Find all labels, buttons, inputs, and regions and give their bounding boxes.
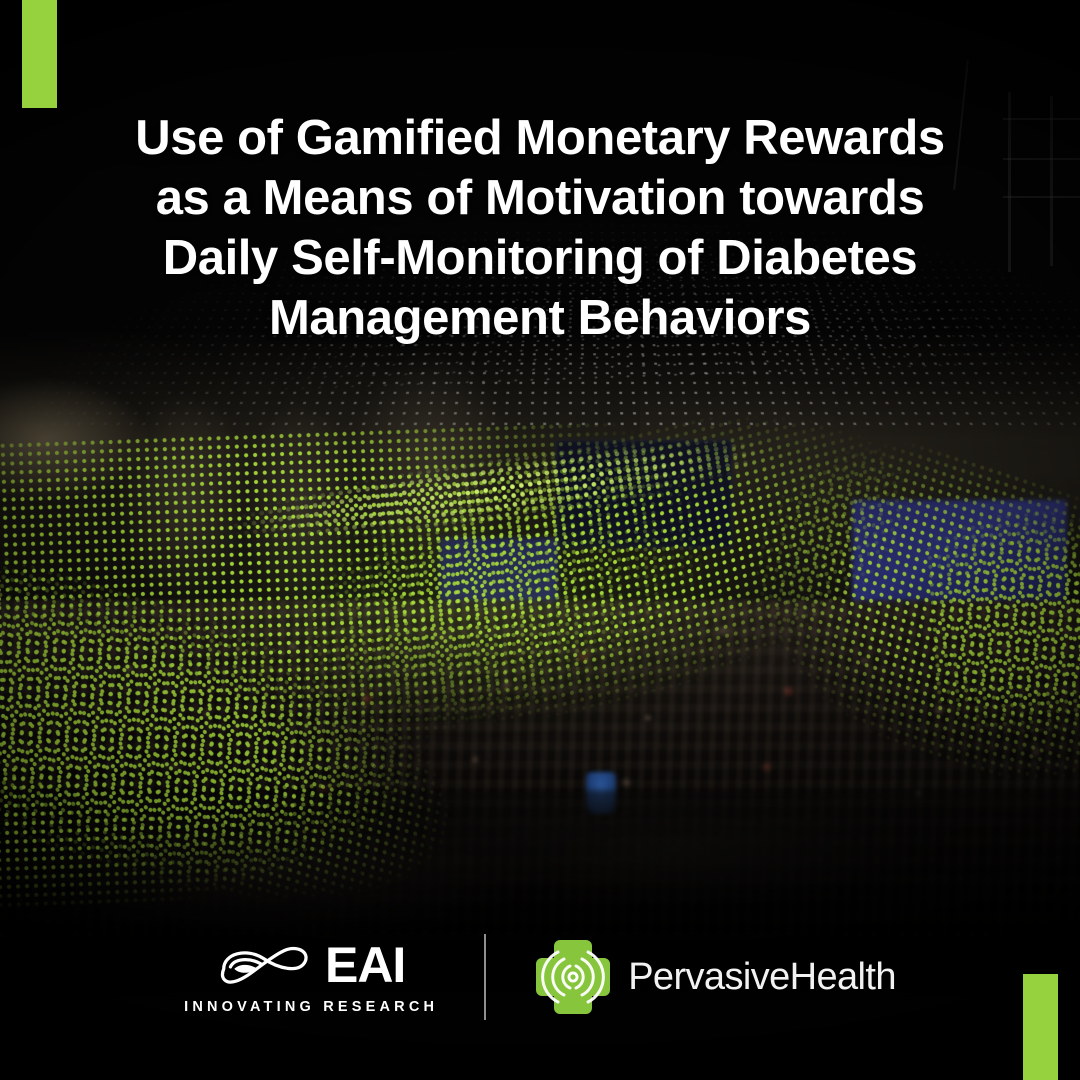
eai-logo-row: EAI [217, 939, 405, 991]
eai-tagline: INNOVATING RESEARCH [184, 999, 438, 1015]
page-title: Use of Gamified Monetary Rewards as a Me… [0, 108, 1080, 348]
title-line-1: Use of Gamified Monetary Rewards [45, 108, 1035, 168]
wave-segment-far-right [922, 492, 1080, 748]
poster-canvas: Use of Gamified Monetary Rewards as a Me… [0, 0, 1080, 1080]
eai-wordmark: EAI [325, 940, 405, 990]
logo-divider [484, 934, 486, 1020]
pervasive-health-logo: PervasiveHealth [532, 936, 896, 1018]
top-left-accent-bar [22, 0, 57, 108]
title-line-4: Management Behaviors [45, 288, 1035, 348]
green-medical-cross-with-signal-waves-icon [532, 936, 614, 1018]
footer-logo-bar: EAI INNOVATING RESEARCH PervasiveHealth [0, 922, 1080, 1032]
title-line-2: as a Means of Motivation towards [45, 168, 1035, 228]
title-line-3: Daily Self-Monitoring of Diabetes [45, 228, 1035, 288]
eai-logo: EAI INNOVATING RESEARCH [184, 939, 438, 1015]
eai-infinity-ribbon-icon [217, 939, 313, 991]
pervasive-health-wordmark: PervasiveHealth [628, 956, 896, 999]
